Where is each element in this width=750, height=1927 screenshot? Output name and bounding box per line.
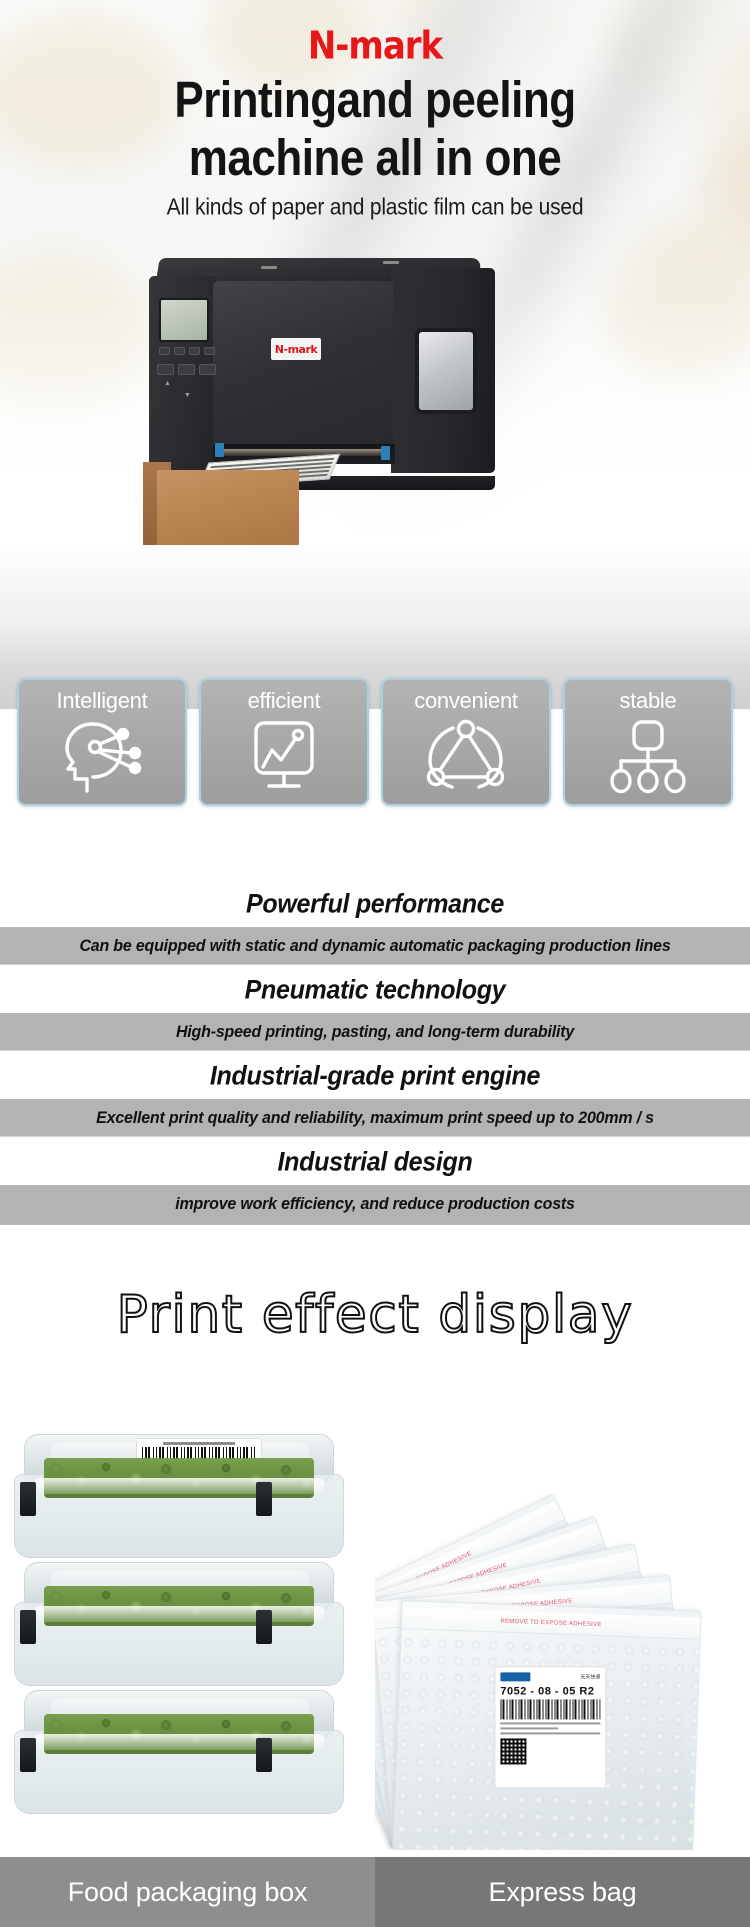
printer-lcd-screen [159, 298, 209, 342]
hierarchy-tree-icon [605, 717, 691, 797]
container-clip-right [256, 1610, 272, 1644]
hero-section: N-mark Printingand peeling machine all i… [0, 0, 750, 545]
printer-ribbon-window [415, 328, 477, 414]
page-title: Printingand peeling machine all in one [0, 72, 750, 188]
shipping-label-barcode [500, 1699, 600, 1719]
food-container-stack [14, 1434, 362, 1834]
shipping-label-title: 天天快递 [580, 1673, 600, 1680]
specifications-list: Powerful performance Can be equipped wit… [0, 880, 750, 1224]
feature-cards-row: Intelligent efficien [0, 678, 750, 806]
printer-nav-up-icon[interactable]: ▲ [164, 380, 171, 387]
barcode-top-text [163, 1442, 236, 1445]
container-clip-left [20, 1482, 36, 1516]
printer-media-guide-right [381, 446, 390, 460]
bubble-mailer-front: REMOVE TO EXPOSE ADHESIVE 天天快递 7052 - 08… [393, 1600, 702, 1850]
spec-detail: improve work efficiency, and reduce prod… [0, 1185, 750, 1225]
feature-card-stable[interactable]: stable [563, 678, 733, 806]
printer-platen-roller [221, 449, 387, 456]
feature-card-efficient[interactable]: efficient [199, 678, 369, 806]
printer-front-cover [213, 281, 393, 453]
spec-heading: Industrial design [0, 1137, 750, 1188]
printer-latch-right [383, 261, 399, 264]
printer-action-button-row[interactable] [157, 364, 216, 375]
printer-latch-left [261, 266, 277, 269]
printer-function-button-row[interactable] [159, 347, 215, 355]
ai-head-icon [59, 717, 145, 797]
shipping-label-line [500, 1732, 600, 1734]
printer-button-f3[interactable] [189, 347, 200, 355]
feature-cards-section: Intelligent efficien [0, 545, 750, 709]
carton-front-face [157, 470, 299, 545]
printer-button-f2[interactable] [174, 347, 185, 355]
feature-card-label: stable [620, 687, 677, 715]
shipping-label-qr-code [500, 1738, 526, 1764]
spec-heading: Powerful performance [0, 879, 750, 930]
spec-detail: Excellent print quality and reliability,… [0, 1099, 750, 1139]
feature-card-label: convenient [414, 687, 517, 715]
brand-logo: N-mark [0, 24, 750, 69]
container-clip-right [256, 1482, 272, 1516]
shipping-label-code: 7052 - 08 - 05 R2 [500, 1685, 600, 1697]
spec-heading: Industrial-grade print engine [0, 1051, 750, 1102]
feature-card-label: Intelligent [57, 687, 148, 715]
courier-logo-icon [500, 1672, 530, 1681]
hero-subtitle: All kinds of paper and plastic film can … [0, 195, 750, 221]
food-container [14, 1562, 344, 1690]
bubble-mailer-fan: REMOVE TO EXPOSE ADHESIVE REMOVE TO EXPO… [375, 1420, 750, 1850]
printer-product-image: ▲ ▼ N-mark [143, 258, 503, 533]
shipping-label-line [500, 1722, 600, 1724]
hero-title-line-1: Printingand peeling [0, 72, 750, 130]
shipping-label-line [500, 1727, 558, 1729]
printer-media-guide-left [215, 443, 224, 457]
container-glare [34, 1606, 324, 1622]
printer-button-feed[interactable] [199, 364, 216, 375]
feature-card-intelligent[interactable]: Intelligent [17, 678, 187, 806]
container-clip-right [256, 1738, 272, 1772]
food-container [14, 1434, 344, 1562]
food-packaging-box-photo [0, 1380, 375, 1850]
product-photo-gallery: REMOVE TO EXPOSE ADHESIVE REMOVE TO EXPO… [0, 1380, 750, 1850]
adhesive-strip-text: REMOVE TO EXPOSE ADHESIVE [500, 1618, 601, 1628]
container-clip-left [20, 1738, 36, 1772]
caption-food-packaging-box: Food packaging box [0, 1857, 375, 1927]
container-clip-left [20, 1610, 36, 1644]
printer-button-menu[interactable] [157, 364, 174, 375]
printer-nav-down-icon[interactable]: ▼ [184, 392, 191, 399]
shipping-label: 天天快递 7052 - 08 - 05 R2 [494, 1666, 606, 1788]
spec-detail: Can be equipped with static and dynamic … [0, 927, 750, 967]
printer-button-f4[interactable] [204, 347, 215, 355]
caption-express-bag: Express bag [375, 1857, 750, 1927]
feature-card-label: efficient [248, 687, 321, 715]
photo-caption-bar: Food packaging box Express bag [0, 1857, 750, 1927]
printer-brand-plate: N-mark [271, 338, 321, 360]
printer-button-f1[interactable] [159, 347, 170, 355]
chart-monitor-icon [241, 717, 327, 797]
spec-heading: Pneumatic technology [0, 965, 750, 1016]
container-glare [34, 1734, 324, 1750]
shipping-label-header: 天天快递 [500, 1672, 600, 1681]
food-container [14, 1690, 344, 1818]
print-effect-display-title: Print effect display [0, 1285, 750, 1345]
container-glare [34, 1478, 324, 1494]
network-triangle-icon [423, 717, 509, 797]
feature-card-convenient[interactable]: convenient [381, 678, 551, 806]
adhesive-strip: REMOVE TO EXPOSE ADHESIVE [402, 1607, 701, 1639]
product-detail-page: N-mark Printingand peeling machine all i… [0, 0, 750, 1927]
spec-detail: High-speed printing, pasting, and long-t… [0, 1013, 750, 1053]
printer-button-pause[interactable] [178, 364, 195, 375]
express-bag-photo: REMOVE TO EXPOSE ADHESIVE REMOVE TO EXPO… [375, 1380, 750, 1850]
hero-title-line-2: machine all in one [0, 130, 750, 188]
